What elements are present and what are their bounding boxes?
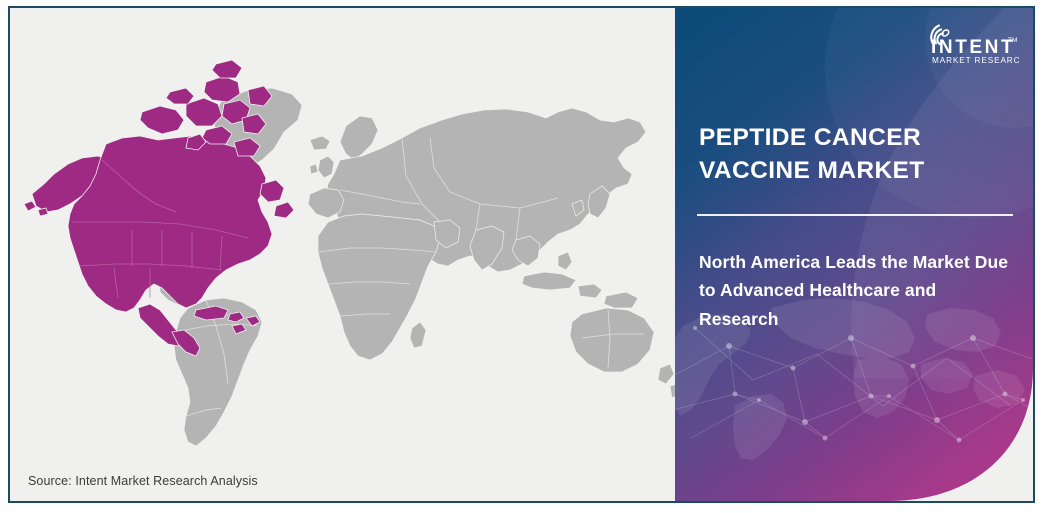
intent-market-research-logo-icon: INTENT TM MARKET RESEARCH xyxy=(915,16,1019,66)
world-map-graphic xyxy=(10,8,682,501)
right-panel: INTENT TM MARKET RESEARCH PEPTIDE CANCER… xyxy=(675,8,1033,501)
card-frame: Source: Intent Market Research Analysis xyxy=(8,6,1035,503)
source-label: Source: Intent Market Research Analysis xyxy=(28,474,258,488)
svg-text:INTENT: INTENT xyxy=(931,37,1015,58)
map-area: Source: Intent Market Research Analysis xyxy=(10,8,682,501)
infographic-root: Source: Intent Market Research Analysis xyxy=(0,0,1043,513)
panel-subtitle: North America Leads the Market Due to Ad… xyxy=(699,248,1017,333)
title-divider xyxy=(697,214,1013,216)
logo-tagline: MARKET RESEARCH xyxy=(932,56,1019,65)
page-title: PEPTIDE CANCER VACCINE MARKET xyxy=(699,122,1011,187)
logo-trademark: TM xyxy=(1008,37,1017,44)
logo: INTENT TM MARKET RESEARCH xyxy=(915,16,1019,66)
